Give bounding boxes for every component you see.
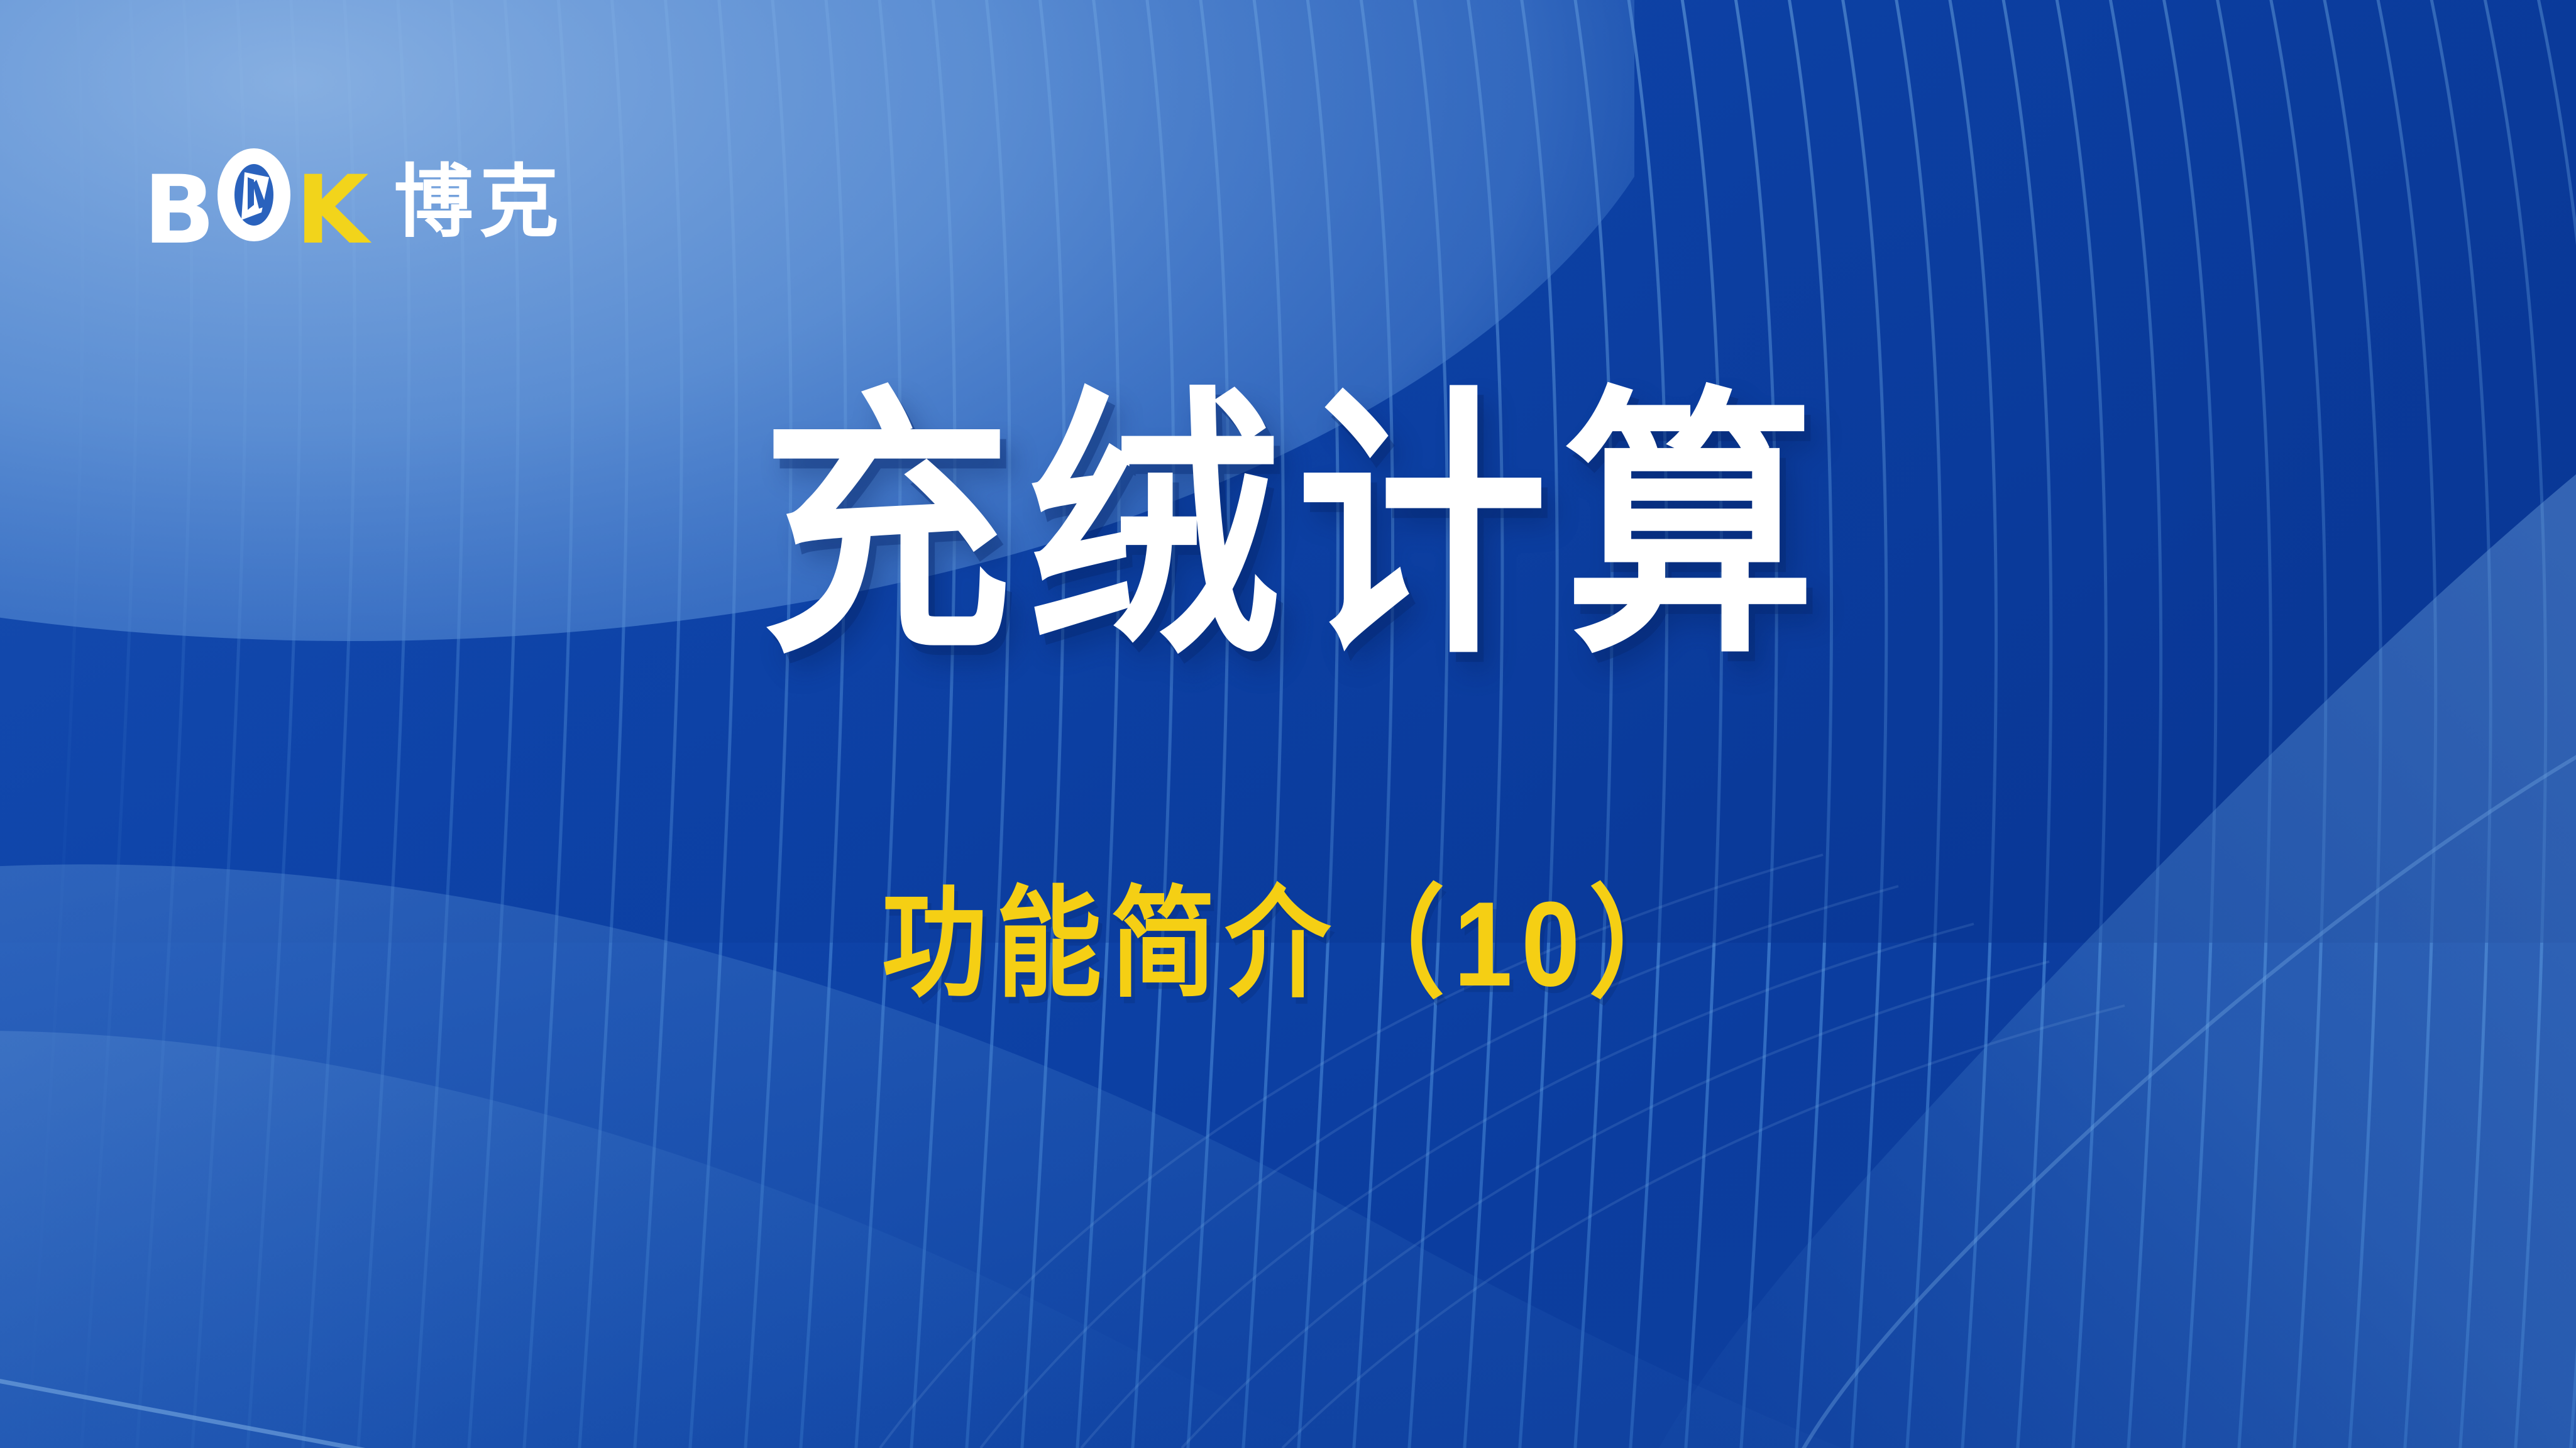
page-subtitle: 功能简介（10） [873, 884, 1704, 1004]
brand-logo[interactable]: B K 博克 [143, 147, 565, 257]
logo-arrow-play-icon [215, 147, 293, 243]
logo-letter-k: K [295, 165, 367, 257]
logo-letter-b: B [143, 165, 214, 257]
logo-wordmark-chinese: 博克 [394, 163, 565, 242]
headline-block: 充绒计算 [0, 402, 2576, 654]
logo-wordmark-latin: B K [143, 147, 368, 257]
page-title: 充绒计算 [744, 387, 1832, 669]
subtitle-block: 功能简介（10） [0, 891, 2576, 997]
title-card-canvas: B K 博克 充绒计算 功能简介（10） [0, 0, 2576, 1448]
